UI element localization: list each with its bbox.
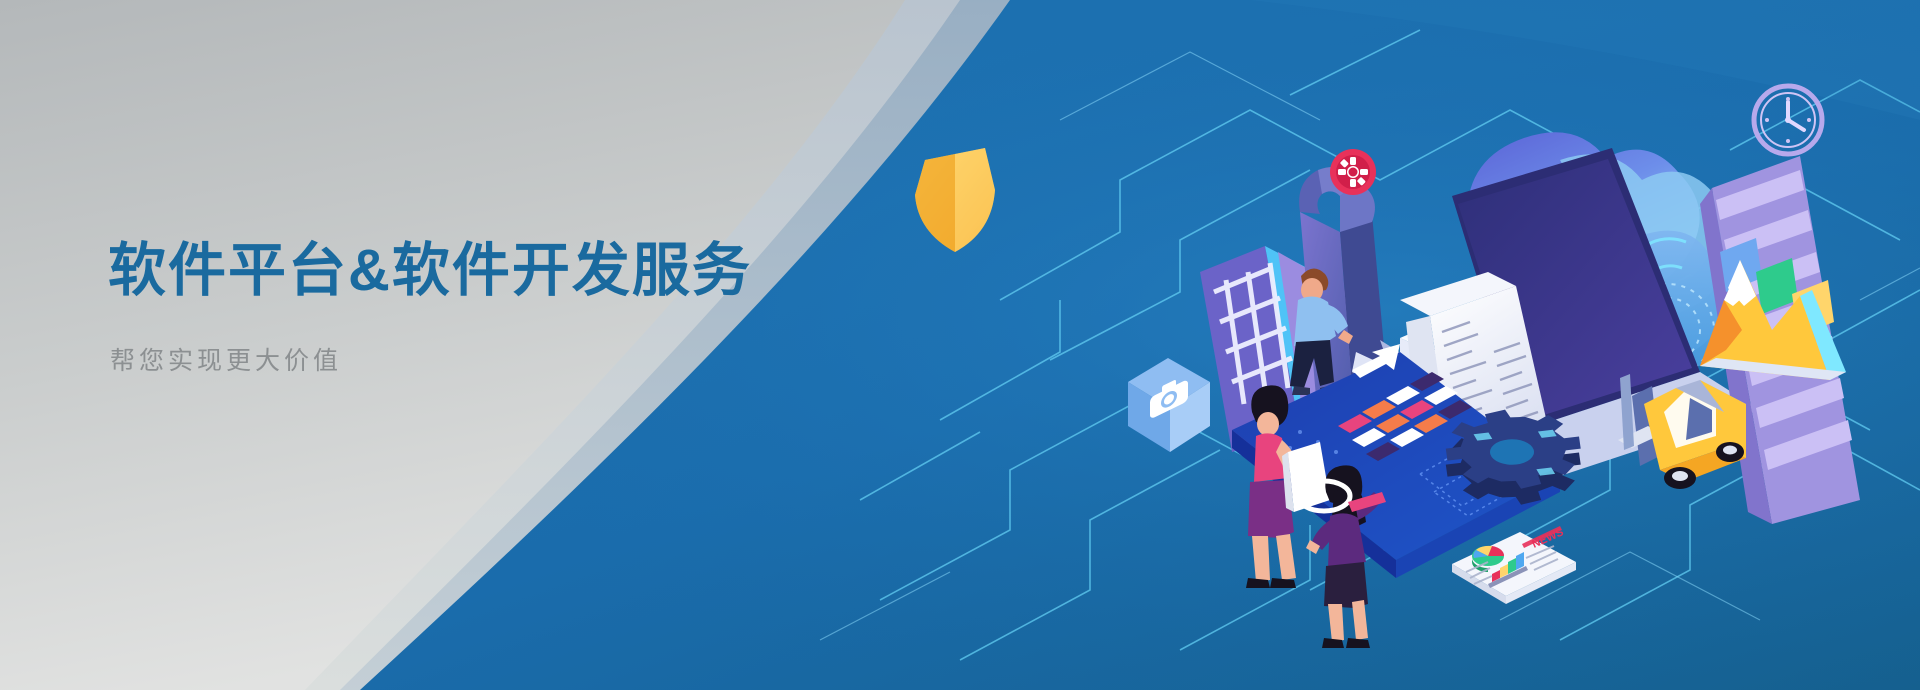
clock-icon xyxy=(1754,86,1822,154)
page-title: 软件平台&软件开发服务 xyxy=(108,240,752,303)
hero-banner: NEWS 软件平台&软件开发服务 帮您实现更大价值 xyxy=(0,0,1920,690)
page-subtitle: 帮您实现更大价值 xyxy=(110,341,752,377)
camera-icon xyxy=(1128,358,1210,452)
gear-badge-icon xyxy=(1330,149,1376,195)
shield-icon xyxy=(915,148,995,252)
hero-copy: 软件平台&软件开发服务 帮您实现更大价值 xyxy=(108,240,752,377)
